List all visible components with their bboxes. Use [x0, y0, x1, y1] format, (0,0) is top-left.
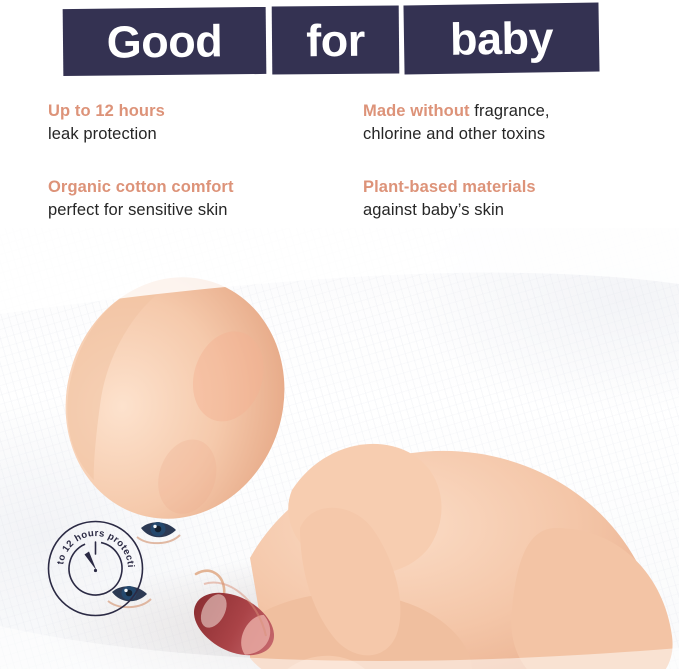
feature-body: perfect for sensitive skin [48, 199, 358, 222]
feature-item-made-without: Made without fragrance, chlorine and oth… [363, 100, 673, 146]
header-word-good-label: Good [107, 18, 223, 64]
feature-headline-text: Made without [363, 102, 470, 120]
badge-12-hour-protection: up to 12 hours protection [47, 520, 144, 617]
header-word-for: for [272, 5, 400, 74]
badge-clock-needle [85, 552, 97, 571]
header-word-baby-label: baby [450, 15, 554, 62]
feature-body-inline: fragrance, [470, 102, 550, 120]
header-word-baby: baby [403, 2, 599, 74]
feature-body-second-line: chlorine and other toxins [363, 123, 673, 146]
feature-body: leak protection [48, 123, 358, 146]
feature-headline-text: Up to 12 hours [48, 102, 165, 120]
feature-list: Up to 12 hours leak protection Made with… [0, 96, 679, 228]
header-word-good: Good [63, 7, 267, 76]
feature-headline: Organic cotton comfort [48, 176, 358, 199]
feature-headline: Plant-based materials [363, 176, 673, 199]
feature-headline-text: Organic cotton comfort [48, 178, 234, 196]
feature-headline: Up to 12 hours [48, 100, 358, 123]
baby-leg-right [511, 528, 672, 669]
feature-item-organic-cotton: Organic cotton comfort perfect for sensi… [48, 176, 358, 222]
feature-headline: Made without fragrance, [363, 100, 673, 123]
feature-item-leak-protection: Up to 12 hours leak protection [48, 100, 358, 146]
feature-item-plant-based: Plant-based materials against baby’s ski… [363, 176, 673, 222]
feature-body: against baby’s skin [363, 199, 673, 222]
feature-headline-text: Plant-based materials [363, 178, 536, 196]
header-banner: Good for baby [0, 0, 679, 90]
header-word-for-label: for [306, 17, 365, 63]
